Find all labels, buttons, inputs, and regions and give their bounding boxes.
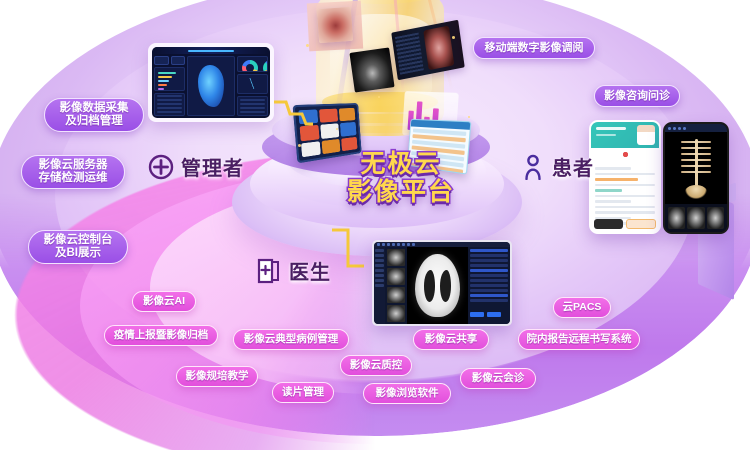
sparkle <box>298 144 301 147</box>
connector-doctor <box>330 226 370 276</box>
pill-image-consultation[interactable]: 影像咨询问诊 <box>594 85 680 107</box>
pill-image-cloud-server[interactable]: 影像云服务器 存储检测运维 <box>21 155 125 189</box>
pill-epidemic-report-archive[interactable]: 疫情上报暨影像归档 <box>104 325 218 346</box>
pill-image-cloud-qc[interactable]: 影像云质控 <box>340 355 412 376</box>
role-patient-label: 患者 <box>552 152 594 181</box>
platform-title-line2: 影像平台 <box>326 178 476 206</box>
pill-intra-hospital-reporting[interactable]: 院内报告远程书写系统 <box>518 329 640 350</box>
patient-report-phone <box>589 120 661 234</box>
infographic-canvas: 管理者 患者 医生 无极云 影像平台 影像数据采集 及归档管理 影像云服务器 存… <box>0 0 750 450</box>
plus-circle-icon <box>148 154 174 180</box>
role-admin[interactable]: 管理者 <box>148 152 244 181</box>
pill-image-cloud-ai[interactable]: 影像云AI <box>132 291 196 312</box>
sparkle <box>336 128 338 130</box>
role-admin-label: 管理者 <box>181 152 244 181</box>
pill-image-viewer-software[interactable]: 影像浏览软件 <box>363 383 451 404</box>
endoscopy-image-thumb <box>317 7 353 43</box>
chest-ct-viewer <box>372 240 512 326</box>
pill-image-data-collection[interactable]: 影像数据采集 及归档管理 <box>44 98 144 132</box>
platform-title-line1: 无极云 <box>326 150 476 178</box>
platform-title: 无极云 影像平台 <box>326 150 476 206</box>
xray-3d-phone <box>663 122 729 234</box>
role-doctor-label: 医生 <box>289 256 331 285</box>
sparkle <box>306 44 309 47</box>
sparkle <box>378 96 380 98</box>
pill-typical-case-management[interactable]: 影像云典型病例管理 <box>233 329 349 350</box>
pill-mobile-image-retrieval[interactable]: 移动端数字影像调阅 <box>473 37 595 59</box>
pill-image-cloud-consult[interactable]: 影像云会诊 <box>460 368 536 389</box>
role-patient[interactable]: 患者 <box>521 152 594 181</box>
ultrasound-image-thumb <box>349 47 394 92</box>
pill-image-cloud-console[interactable]: 影像云控制台 及BI展示 <box>28 230 128 264</box>
pill-film-reading-management[interactable]: 读片管理 <box>272 382 334 403</box>
sparkle <box>452 36 455 39</box>
connector-bolt-admin <box>272 100 314 126</box>
sparkle <box>468 116 470 118</box>
bi-dashboard-monitor <box>148 43 274 122</box>
role-doctor[interactable]: 医生 <box>256 256 331 285</box>
document-plus-icon <box>256 257 282 285</box>
person-icon <box>521 154 545 180</box>
pill-cloud-pacs[interactable]: 云PACS <box>553 297 611 318</box>
pill-standardized-training[interactable]: 影像规培教学 <box>176 366 258 387</box>
pill-image-cloud-sharing[interactable]: 影像云共享 <box>413 329 489 350</box>
